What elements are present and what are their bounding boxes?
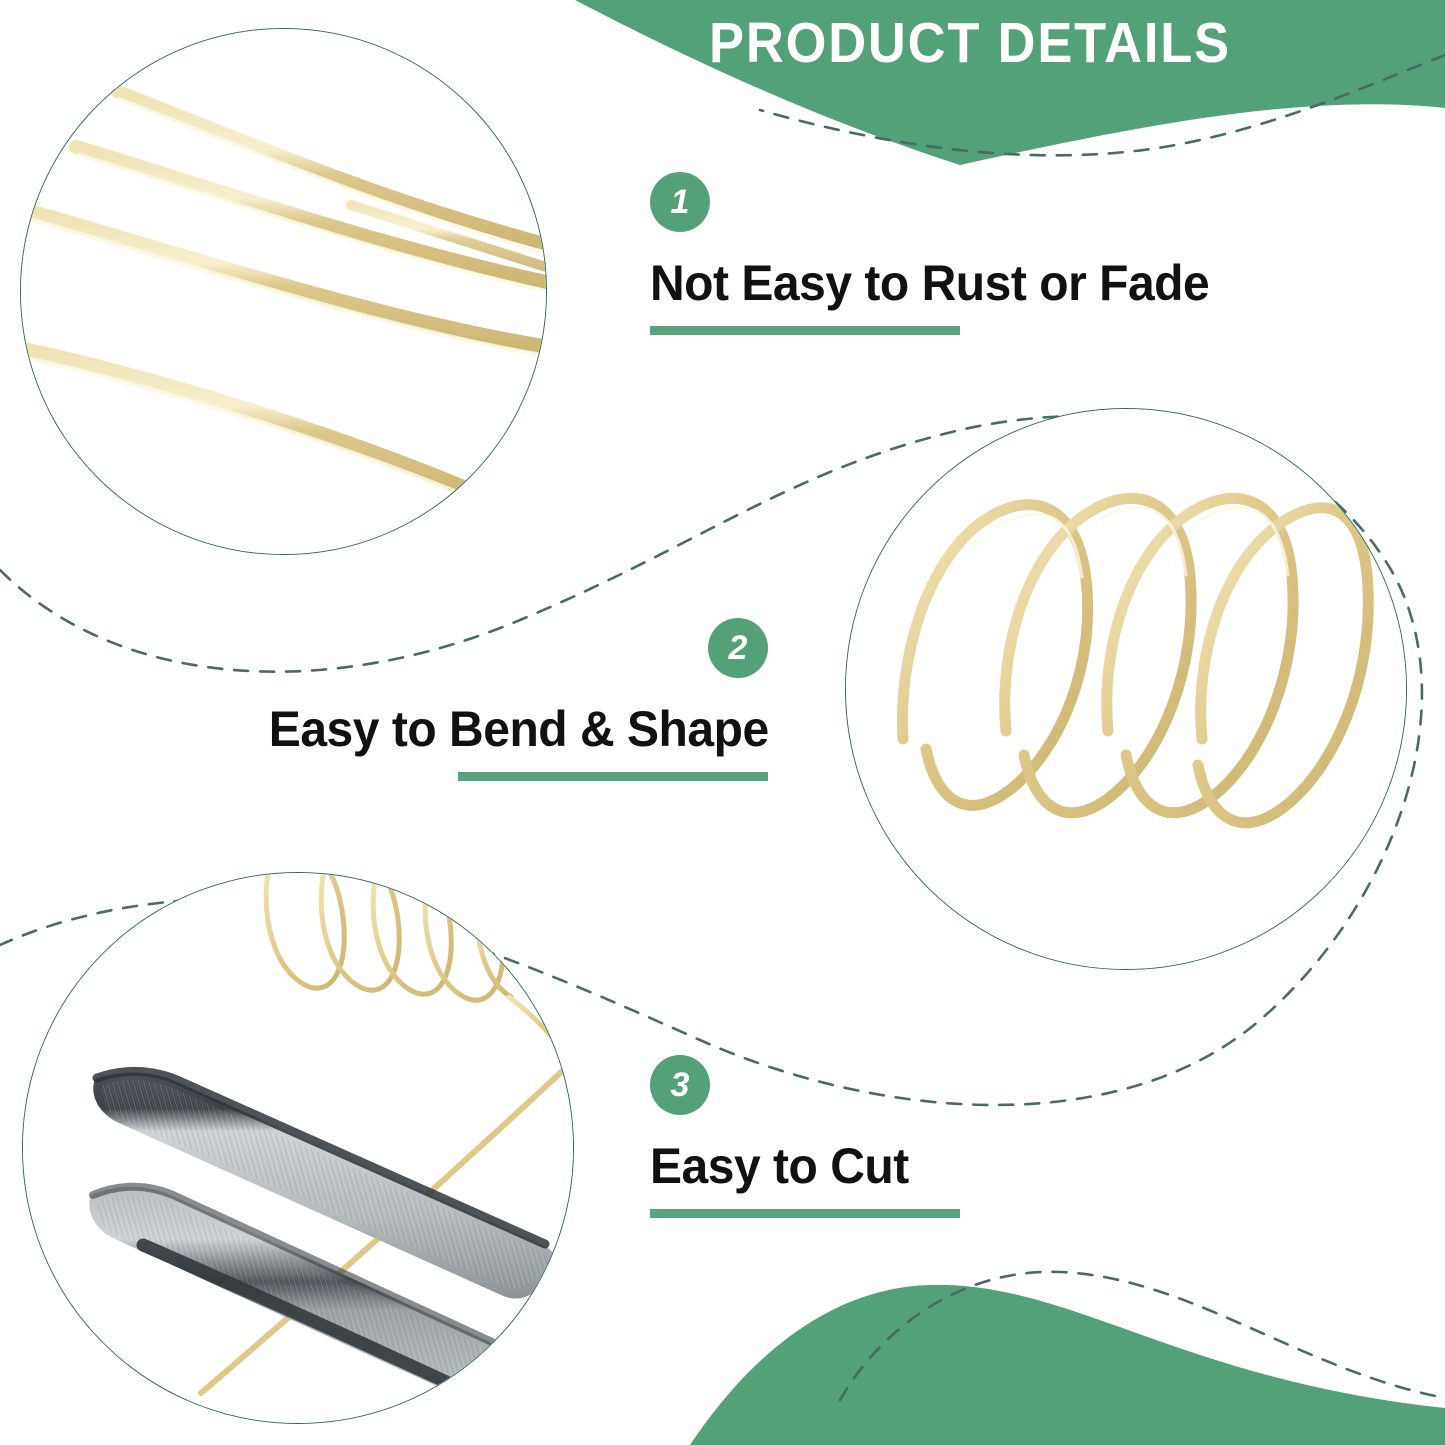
feature-2-number-badge: 2 xyxy=(708,618,768,678)
feature-1-image xyxy=(20,28,547,555)
feature-2-image xyxy=(845,408,1407,970)
feature-block-1: 1 Not Easy to Rust or Fade xyxy=(650,172,1233,335)
product-details-infographic: PRODUCT DETAILS xyxy=(0,0,1445,1445)
page-title: PRODUCT DETAILS xyxy=(648,10,1292,76)
feature-3-underline xyxy=(650,1209,960,1218)
feature-2-title: Easy to Bend & Shape xyxy=(269,700,768,758)
feature-3-image xyxy=(22,872,574,1424)
bottom-wave-shape xyxy=(690,1285,1445,1445)
feature-2-underline xyxy=(458,772,768,781)
feature-3-title: Easy to Cut xyxy=(650,1137,948,1195)
feature-3-number-badge: 3 xyxy=(650,1055,710,1115)
feature-block-3: 3 Easy to Cut xyxy=(650,1055,960,1218)
feature-1-underline xyxy=(650,326,960,335)
feature-1-number-badge: 1 xyxy=(650,172,710,232)
feature-block-2: 2 Easy to Bend & Shape xyxy=(248,618,768,781)
feature-1-title: Not Easy to Rust or Fade xyxy=(650,254,1209,312)
